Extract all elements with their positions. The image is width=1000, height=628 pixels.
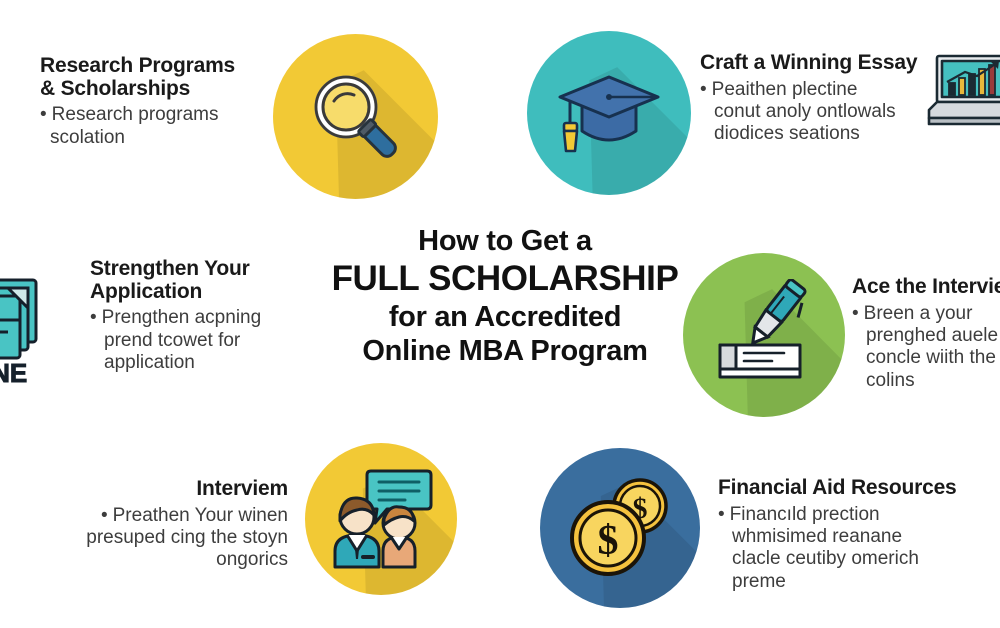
- section-heading: Craft a Winning Essay: [700, 52, 1000, 75]
- bullet-text: Research programs: [52, 104, 219, 125]
- section-interview: Interviem •Preathen Your winen presuped …: [48, 478, 288, 572]
- bullet-text: diodices seations: [714, 123, 860, 144]
- bullet-dot: •: [700, 79, 707, 100]
- bullet-text: ongorics: [216, 549, 288, 570]
- icon-circle-research-programs: [273, 34, 438, 199]
- svg-text:$: $: [598, 518, 619, 564]
- section-bullets: •Breen a your prenghed auele concle wiit…: [852, 303, 1000, 393]
- bullet-text: conut anoly ontlowals: [714, 101, 896, 122]
- bullet-text: Prengthen acpning: [102, 307, 262, 328]
- bullet-text: colins: [866, 370, 915, 391]
- heading-line-2: Application: [90, 280, 202, 303]
- section-bullets: •Prengthen acpning prend tcowet for appl…: [90, 307, 320, 374]
- section-heading: Ace the Interview: [852, 276, 1000, 299]
- section-strengthen-application: Strengthen Your Application •Prengthen a…: [90, 258, 320, 375]
- bullet-dot: •: [101, 505, 108, 526]
- list-item: •Prengthen acpning: [90, 307, 320, 329]
- heading-line-2: & Scholarships: [40, 77, 190, 100]
- list-item: application: [90, 352, 320, 374]
- page-title: How to Get a FULL SCHOLARSHIP for an Acc…: [330, 224, 680, 368]
- list-item: •Financıld prection: [718, 504, 1000, 526]
- list-item: preme: [718, 571, 1000, 593]
- bullet-text: concle wiith the: [866, 347, 996, 368]
- section-heading: Interviem: [48, 478, 288, 501]
- section-bullets: •Financıld prection whmisimed reanane cl…: [718, 504, 1000, 594]
- list-item: conut anoly ontlowals: [700, 101, 1000, 123]
- bullet-text: Preathen Your winen: [113, 505, 288, 526]
- bullet-dot: •: [40, 104, 47, 125]
- people-chat-icon: [327, 467, 435, 571]
- section-research-programs: Research Programs & Scholarships •Resear…: [40, 55, 270, 149]
- list-item: prend tcowet for: [90, 330, 320, 352]
- section-ace-interview: Ace the Interview •Breen a your prenghed…: [852, 276, 1000, 392]
- list-item: clacle ceutiby omerich: [718, 548, 1000, 570]
- list-item: colins: [852, 370, 1000, 392]
- bullet-text: prend tcowet for: [104, 330, 240, 351]
- bullet-text: Breen a your: [864, 303, 973, 324]
- title-line-2: FULL SCHOLARSHIP: [330, 258, 680, 299]
- graduation-cap-icon: [554, 65, 664, 161]
- icon-circle-interview: [305, 443, 457, 595]
- bullet-text: whmisimed reanane: [732, 526, 902, 547]
- heading-line-1: Research Programs: [40, 54, 235, 77]
- dollar-coins-icon: $ $: [566, 476, 674, 580]
- list-item: diodices seations: [700, 123, 1000, 145]
- heading-line-1: Strengthen Your: [90, 257, 250, 280]
- bullet-text: application: [104, 352, 195, 373]
- title-line-3: for an Accredited: [330, 300, 680, 334]
- bullet-text: scolation: [50, 127, 125, 148]
- section-heading: Research Programs & Scholarships: [40, 55, 270, 100]
- title-line-4: Online MBA Program: [330, 334, 680, 368]
- list-item: •Breen a your: [852, 303, 1000, 325]
- list-item: •Research programs: [40, 104, 270, 126]
- bullet-text: prenghed auele: [866, 325, 998, 346]
- list-item: prenghed auele: [852, 325, 1000, 347]
- list-item: •Preathen Your winen: [48, 505, 288, 527]
- documents-label: LINE: [0, 358, 27, 388]
- section-heading: Strengthen Your Application: [90, 258, 320, 303]
- bullet-text: presuped cing the stoyn: [86, 527, 288, 548]
- bullet-dot: •: [718, 504, 725, 525]
- list-item: •Peaithen plectine: [700, 79, 1000, 101]
- bullet-dot: •: [852, 303, 859, 324]
- magnifying-glass-icon: [304, 65, 408, 169]
- infographic-canvas: LINE: [0, 0, 1000, 628]
- section-craft-essay: Craft a Winning Essay •Peaithen plectine…: [700, 52, 1000, 146]
- icon-circle-ace-interview: [683, 253, 845, 417]
- list-item: presuped cing the stoyn: [48, 527, 288, 549]
- bullet-text: preme: [732, 571, 786, 592]
- section-bullets: •Research programs scolation: [40, 104, 270, 149]
- list-item: ongorics: [48, 549, 288, 571]
- bullet-text: Peaithen plectine: [712, 79, 858, 100]
- title-line-1: How to Get a: [330, 224, 680, 258]
- bullet-text: clacle ceutiby omerich: [732, 548, 919, 569]
- icon-circle-financial-aid: $ $: [540, 448, 700, 608]
- bullet-dot: •: [90, 307, 97, 328]
- section-financial-aid: Financial Aid Resources •Financıld prect…: [718, 477, 1000, 593]
- section-bullets: •Preathen Your winen presuped cing the s…: [48, 505, 288, 572]
- section-heading: Financial Aid Resources: [718, 477, 1000, 500]
- icon-circle-craft-essay: [527, 31, 691, 195]
- documents-icon: LINE: [0, 258, 42, 393]
- list-item: whmisimed reanane: [718, 526, 1000, 548]
- list-item: concle wiith the: [852, 347, 1000, 369]
- bullet-text: Financıld prection: [730, 504, 880, 525]
- section-bullets: •Peaithen plectine conut anoly ontlowals…: [700, 79, 1000, 146]
- pen-writing-icon: [708, 279, 820, 391]
- list-item: scolation: [40, 127, 270, 149]
